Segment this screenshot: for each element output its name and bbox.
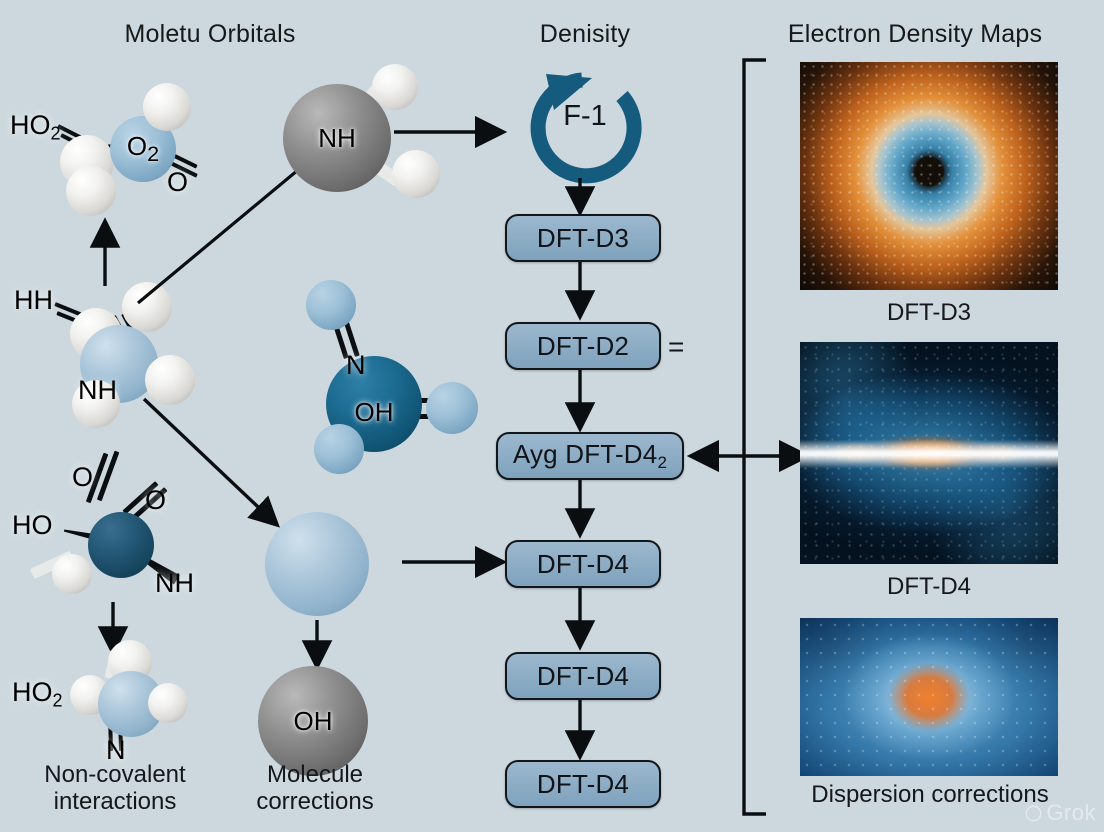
star-speckle-overlay (800, 618, 1058, 776)
arrow-nh-to-cycle (392, 118, 512, 148)
flow-box-avg-dft-d4[interactable]: Ayg DFT-D42 (496, 432, 684, 480)
atom-label-nh: NH (283, 84, 391, 192)
atom-label-oh-gray: OH (258, 666, 368, 776)
flow-box-label: DFT-D4 (537, 549, 629, 580)
flow-box-dft-d4-3[interactable]: DFT-D4 (505, 760, 661, 808)
nebula-blue-plane (800, 342, 1058, 564)
atom-h-dk-right (426, 382, 478, 434)
label-ho2-nc: HO2 (12, 677, 63, 711)
label-o-top: O (72, 462, 93, 493)
nebula-blue-cloud (800, 618, 1058, 776)
density-map-image-2 (800, 342, 1058, 564)
bond-co-left-b (97, 451, 119, 501)
equals-sign: = (668, 331, 684, 363)
label-ho2-top: HO2 (10, 110, 61, 144)
recycle-cycle-icon: F-1 (510, 62, 660, 192)
arrow-box5-to-box6 (565, 700, 599, 762)
flow-box-dft-d2[interactable]: DFT-D2 (505, 322, 661, 370)
atom-hydrogen-lower (66, 166, 116, 216)
star-speckle-overlay (800, 342, 1058, 564)
column-title-middle: Denisity (455, 20, 715, 49)
column-title-right: Electron Density Maps (740, 20, 1090, 49)
atom-hydrogen-top (143, 83, 191, 131)
arrow-sphere-to-oh-sphere (300, 618, 340, 672)
flow-box-dft-d4-1[interactable]: DFT-D4 (505, 540, 661, 588)
arrow-box3-to-box4 (565, 480, 599, 540)
density-map-caption-1: DFT-D3 (800, 300, 1058, 327)
atom-h-carbamate (52, 554, 92, 594)
arrow-bidirectional-maps (688, 440, 813, 474)
arrow-cycle-to-box1 (565, 178, 599, 218)
arrow-sphere-to-dftd4 (400, 548, 512, 578)
label-nh-amine: NH (78, 375, 117, 406)
flow-box-dft-d3[interactable]: DFT-D3 (505, 214, 661, 262)
label-nh-carbamate: NH (155, 568, 194, 599)
atom-h-nh-top (372, 64, 418, 110)
atom-h-dk-bottom (314, 424, 364, 474)
star-speckle-overlay (800, 62, 1058, 290)
label-o-upper-right: O (145, 485, 166, 516)
flow-box-label: DFT-D2 (537, 331, 629, 362)
label-n-dark: N (346, 350, 366, 381)
atom-nh-gray: NH (283, 84, 391, 192)
density-map-image-1 (800, 62, 1058, 290)
diagram-canvas: Moletu Orbitals Denisity Electron Densit… (0, 0, 1104, 832)
density-map-caption-2: DFT-D4 (800, 574, 1058, 601)
cycle-label: F-1 (510, 100, 660, 133)
flow-box-label: DFT-D4 (537, 661, 629, 692)
atom-h-nh-bottom (392, 150, 440, 198)
caption-molecule-corrections: Molecule corrections (215, 762, 415, 816)
atom-carbon-navy (88, 512, 154, 578)
flow-box-label: DFT-D3 (537, 223, 629, 254)
flow-box-label: DFT-D4 (537, 769, 629, 800)
flow-box-label: Ayg DFT-D42 (513, 439, 667, 473)
group-bracket (736, 58, 776, 818)
plain-blue-sphere (265, 512, 369, 616)
density-map-image-3 (800, 618, 1058, 776)
nebula-orange-ring (800, 62, 1058, 290)
arrow-box2-to-box3 (565, 370, 599, 434)
noncovalent-molecule: HO2 N (0, 635, 230, 765)
arrow-box4-to-box5 (565, 588, 599, 652)
carbamate-molecule: O O HO NH (0, 460, 230, 620)
label-ho: HO (12, 510, 53, 541)
column-title-left: Moletu Orbitals (40, 20, 380, 49)
oh-gray-sphere: OH (258, 666, 368, 776)
atom-h-dk-top (306, 280, 356, 330)
arrow-box1-to-box2 (565, 262, 599, 322)
atom-h-nc-right (148, 683, 188, 723)
caption-non-covalent: Non-covalent interactions (0, 762, 230, 816)
oh-dark-molecule: OH N (278, 272, 478, 462)
label-hh: HH (14, 285, 53, 316)
flow-box-dft-d4-2[interactable]: DFT-D4 (505, 652, 661, 700)
density-map-caption-3: Dispersion corrections (780, 782, 1080, 809)
